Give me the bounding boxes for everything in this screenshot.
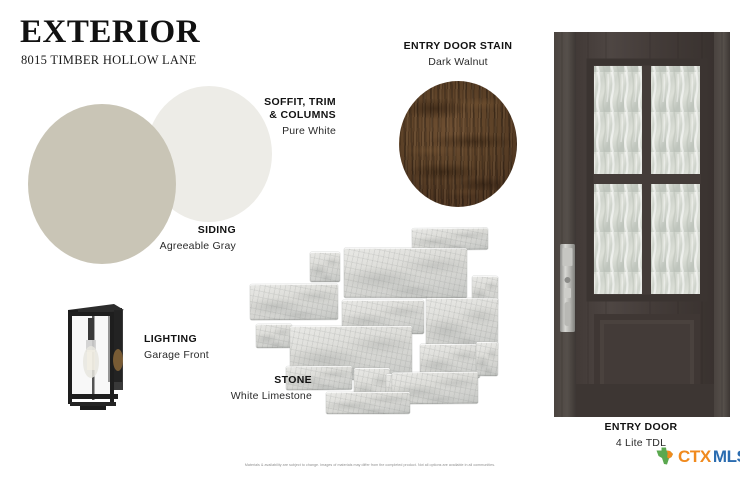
caption-value: Dark Walnut [378,56,538,69]
texas-state-icon [654,445,676,467]
caption-label: ENTRY DOOR [558,421,724,434]
stone-block [476,342,498,376]
caption-value: Agreeable Gray [80,240,236,253]
disclaimer-text: Materials & availability are subject to … [0,463,740,468]
page-title: EXTERIOR [20,16,200,49]
caption-label-line2: & COLUMNS [178,109,336,122]
caption-soffit-trim-columns: SOFFIT, TRIM & COLUMNS Pure White [178,96,336,138]
caption-siding: SIDING Agreeable Gray [80,224,236,253]
caption-label: ENTRY DOOR STAIN [378,40,538,53]
page-subtitle-address: 8015 TIMBER HOLLOW LANE [21,54,197,67]
watermark-ctx-text: CTX [678,448,711,465]
caption-stone: STONE White Limestone [150,374,312,403]
lantern-icon [62,294,140,422]
caption-label-line1: SOFFIT, TRIM [178,96,336,109]
caption-entry-door-stain: ENTRY DOOR STAIN Dark Walnut [378,40,538,69]
stone-block [250,284,338,321]
swatch-dark-walnut-stain [399,81,517,207]
caption-value: White Limestone [150,390,312,403]
watermark-mls-text: MLS [713,448,740,465]
stone-block [326,392,410,414]
caption-label: SIDING [80,224,236,237]
caption-label: STONE [150,374,312,387]
product-photo-garage-lantern [62,294,140,422]
stone-block [310,252,340,282]
stone-block [256,324,292,348]
ctxmls-watermark: CTX MLS [654,444,740,468]
product-photo-entry-door [554,32,730,417]
exterior-selection-board: EXTERIOR 8015 TIMBER HOLLOW LANE SOFFIT,… [0,0,740,480]
stone-block [344,248,467,298]
wood-grain-light-layer [399,81,517,207]
stone-block [412,228,488,251]
entry-door-icon [554,32,730,417]
caption-value: Pure White [178,125,336,138]
